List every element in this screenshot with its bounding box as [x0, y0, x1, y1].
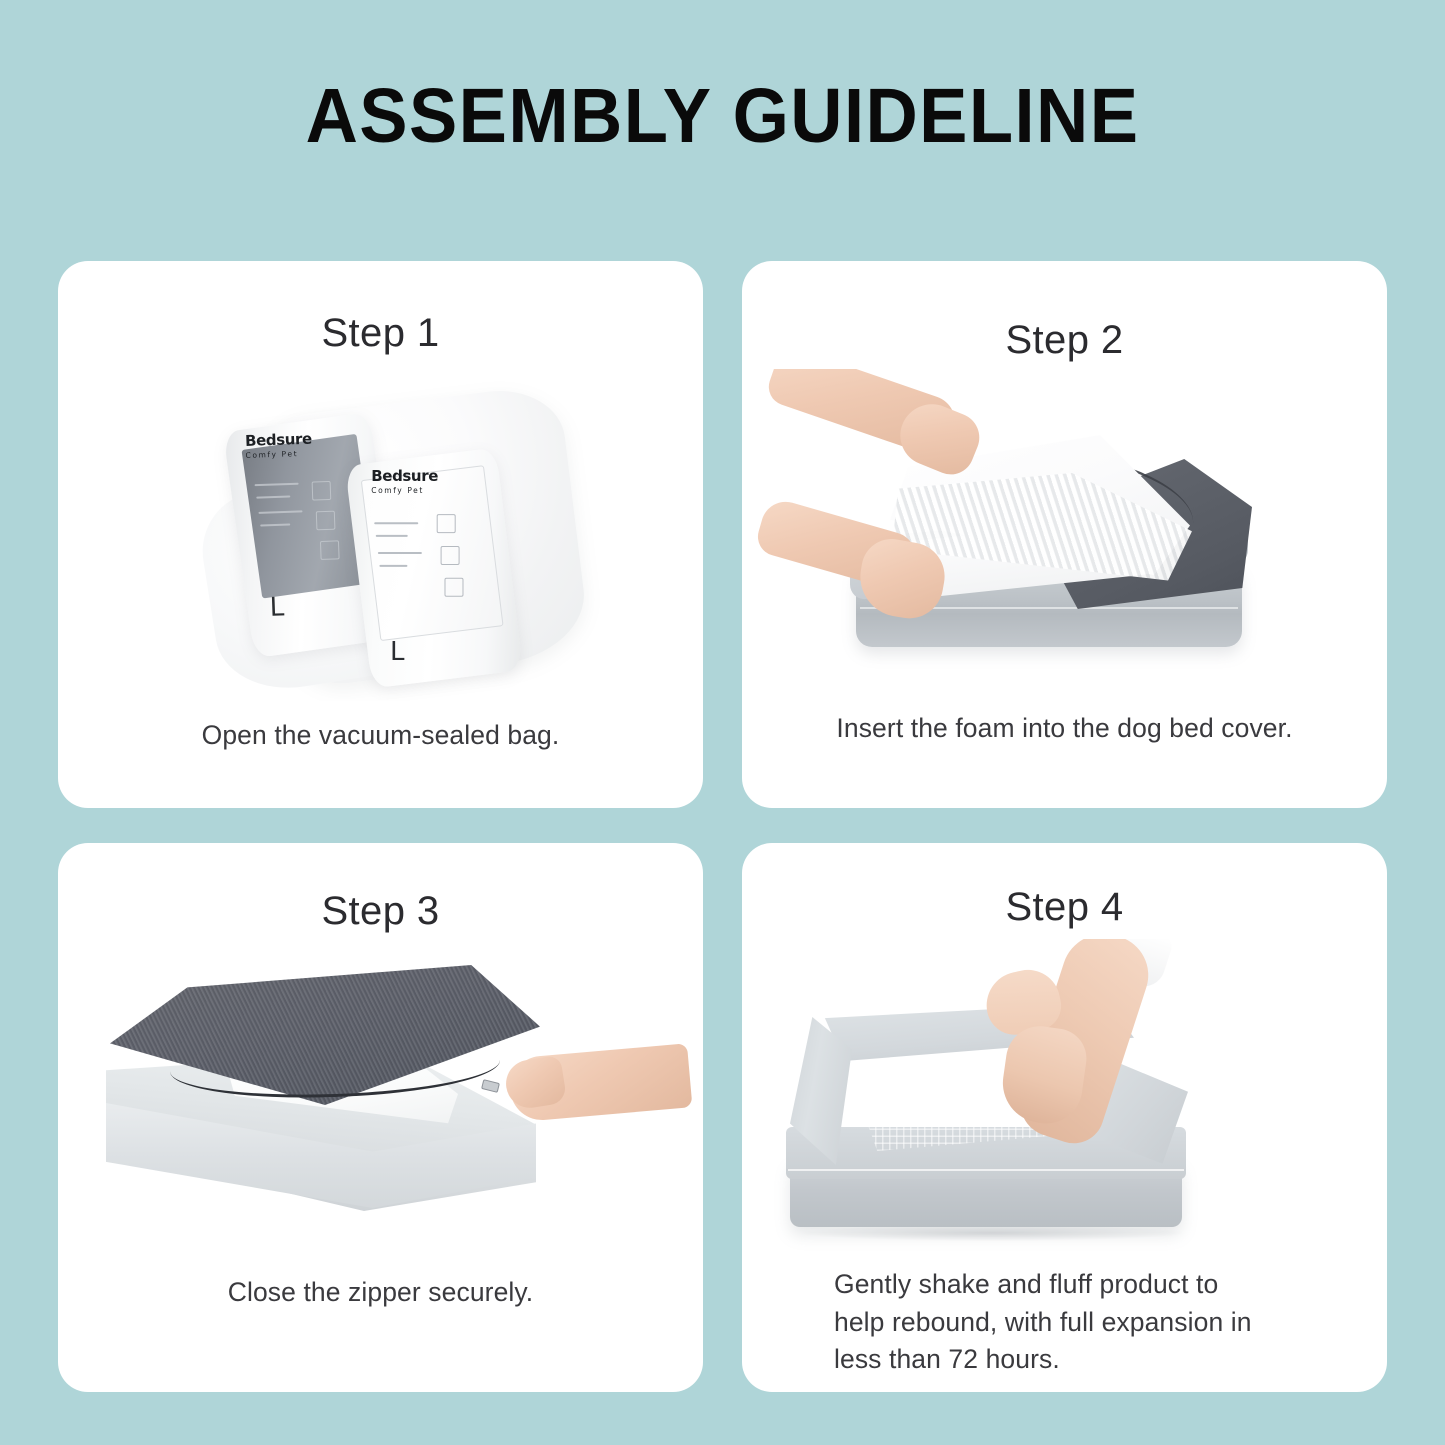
- size-label-left: L: [269, 594, 284, 620]
- step-2-illustration: [742, 369, 1387, 704]
- step-1-caption: Open the vacuum-sealed bag.: [58, 717, 703, 755]
- step-card-2: Step 2 Insert the foam into the dog bed …: [742, 261, 1387, 808]
- care-symbol-icon: [312, 481, 332, 501]
- step-4-caption: Gently shake and fluff product to help r…: [834, 1266, 1266, 1379]
- step-card-1: Step 1 Bedsure Comfy Pet L: [58, 261, 703, 808]
- foam-roll-right: Bedsure Comfy Pet L: [345, 448, 523, 689]
- label-text-line: [374, 522, 418, 524]
- page-title: ASSEMBLY GUIDELINE: [43, 78, 1401, 155]
- zipper-pull-icon: [481, 1079, 500, 1093]
- step-2-heading: Step 2: [742, 320, 1387, 360]
- care-symbol-icon: [320, 540, 340, 560]
- step-3-illustration: [58, 943, 703, 1273]
- size-label-right: L: [390, 639, 405, 665]
- step-1-heading: Step 1: [58, 313, 703, 353]
- step-2-caption: Insert the foam into the dog bed cover.: [742, 710, 1387, 748]
- brand-name-right: Bedsure: [371, 467, 438, 485]
- care-symbol-icon: [316, 511, 336, 531]
- step-4-heading: Step 4: [742, 887, 1387, 927]
- brand-sub-right: Comfy Pet: [371, 487, 438, 495]
- brand-logo-left: Bedsure Comfy Pet: [245, 432, 313, 460]
- label-text-line: [378, 552, 422, 554]
- step-card-3: Step 3 Close the zipper securely.: [58, 843, 703, 1392]
- step-3-caption: Close the zipper securely.: [58, 1274, 703, 1312]
- care-symbol-icon: [444, 578, 463, 597]
- label-text-line: [376, 535, 408, 537]
- step-3-heading: Step 3: [58, 891, 703, 931]
- step-card-4: Step 4 Gently shake and fluff product to…: [742, 843, 1387, 1392]
- step-1-illustration: Bedsure Comfy Pet L Bedsure Comfy Pet: [58, 381, 703, 701]
- care-symbol-icon: [437, 514, 456, 533]
- brand-logo-right: Bedsure Comfy Pet: [371, 469, 438, 495]
- care-symbol-icon: [441, 546, 460, 565]
- bed-shadow: [802, 1225, 1182, 1241]
- steps-grid: Step 1 Bedsure Comfy Pet L: [58, 261, 1387, 1392]
- label-text-line: [379, 565, 407, 567]
- brand-name-left: Bedsure: [245, 430, 312, 450]
- step-4-illustration: [742, 939, 1387, 1269]
